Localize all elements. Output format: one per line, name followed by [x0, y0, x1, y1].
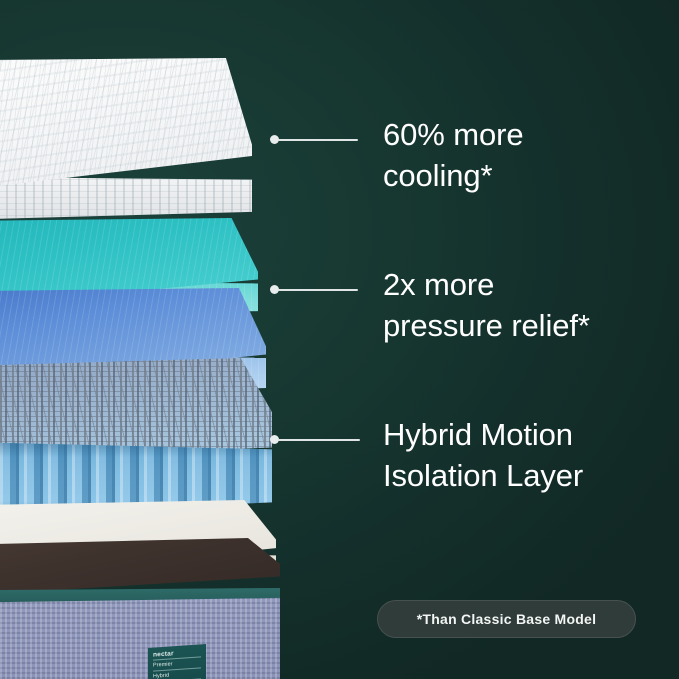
cover-front-face	[0, 176, 252, 222]
cover-top-face	[0, 58, 252, 198]
callout-cooling: 60% more cooling*	[270, 118, 524, 196]
foundation-fabric-side	[0, 594, 280, 679]
mattress-layer-stack: nectar Premier Hybrid ❄ ❄	[0, 0, 280, 679]
footnote-text: *Than Classic Base Model	[417, 611, 597, 627]
footnote-badge: *Than Classic Base Model	[377, 600, 636, 638]
leader-stroke	[278, 439, 360, 441]
mattress-layer-fabric-foundation: nectar Premier Hybrid ❄ ❄	[0, 538, 280, 679]
callout-label-cooling: 60% more cooling*	[383, 114, 524, 196]
leader-line-motion-isolation	[270, 418, 360, 462]
callout-label-motion-isolation: Hybrid Motion Isolation Layer	[383, 414, 583, 496]
mattress-layer-quilted-cooling-cover	[0, 58, 252, 198]
leader-stroke	[278, 139, 358, 141]
leader-line-cooling	[270, 118, 360, 162]
nectar-law-tag: nectar Premier Hybrid ❄ ❄	[148, 644, 206, 679]
callout-motion-isolation: Hybrid Motion Isolation Layer	[270, 418, 583, 496]
callout-pressure-relief: 2x more pressure relief*	[270, 268, 590, 346]
product-infographic: nectar Premier Hybrid ❄ ❄ 60% more cooli…	[0, 0, 679, 679]
callout-label-pressure-relief: 2x more pressure relief*	[383, 264, 590, 346]
leader-line-pressure-relief	[270, 268, 360, 312]
leader-stroke	[278, 289, 358, 291]
tag-model-type: Hybrid	[153, 670, 201, 679]
